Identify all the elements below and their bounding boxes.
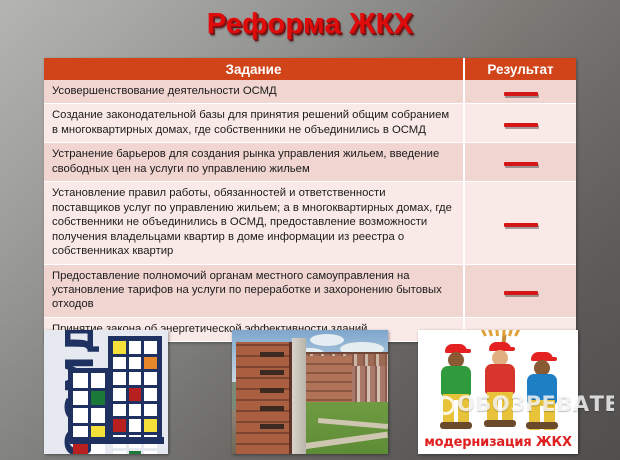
boots — [440, 422, 472, 429]
task-cell: Усовершенствование деятельности ОСМД — [44, 80, 464, 104]
table-row: Предоставление полномочий органам местно… — [44, 264, 576, 317]
result-dash-icon — [504, 291, 538, 295]
table-row: Установление правил работы, обязанностей… — [44, 182, 576, 264]
result-cell — [464, 80, 576, 104]
balcony — [260, 388, 284, 393]
red-sweater — [485, 364, 515, 394]
mid-building — [306, 356, 352, 408]
rake-head-icon — [484, 330, 518, 336]
result-dash-icon — [504, 162, 538, 166]
result-cell — [464, 143, 576, 182]
result-cell — [464, 264, 576, 317]
task-cell: Установление правил работы, обязанностей… — [44, 182, 464, 264]
building-mid-icon — [68, 368, 110, 442]
watermark-text: ОБОЗРЕВАТЕЛЬ — [457, 392, 614, 416]
worker-right — [522, 348, 562, 428]
apartment-photo — [232, 330, 388, 454]
far-building-row-2 — [350, 366, 388, 404]
osmd-logo-image: ОСМД — [44, 330, 168, 454]
tower-side-wall — [292, 338, 306, 454]
boots — [484, 420, 516, 427]
table-row: Создание законодательной базы для принят… — [44, 104, 576, 143]
table-body: Усовершенствование деятельности ОСМД Соз… — [44, 80, 576, 342]
result-cell — [464, 182, 576, 264]
table-header: Задание Результат — [44, 58, 576, 80]
cloud — [310, 334, 344, 346]
balcony — [260, 406, 284, 411]
obozrevatel-watermark: ОБОЗРЕВАТЕЛЬ — [436, 392, 614, 416]
column-header-result: Результат — [464, 58, 576, 80]
result-cell — [464, 104, 576, 143]
building-base — [70, 437, 164, 444]
boots — [526, 422, 558, 429]
balcony — [260, 424, 284, 429]
watermark-circle-icon — [436, 396, 455, 415]
balcony — [260, 352, 284, 357]
reform-table: Задание Результат Усовершенствование дея… — [44, 58, 576, 342]
result-dash-icon — [504, 123, 538, 127]
balcony — [260, 370, 284, 375]
result-dash-icon — [504, 223, 538, 227]
title-container: Реформа ЖКХ — [0, 2, 620, 46]
task-cell: Создание законодательной базы для принят… — [44, 104, 464, 143]
table-row: Усовершенствование деятельности ОСМД — [44, 80, 576, 104]
column-header-task: Задание — [44, 58, 464, 80]
table-header-row: Задание Результат — [44, 58, 576, 80]
result-dash-icon — [504, 92, 538, 96]
poster-caption: модернизация ЖКХ — [418, 435, 578, 450]
task-cell: Предоставление полномочий органам местно… — [44, 264, 464, 317]
task-cell: Устранение барьеров для создания рынка у… — [44, 143, 464, 182]
slide-canvas: Реформа ЖКХ Задание Результат Усовершенс… — [0, 0, 620, 460]
page-title: Реформа ЖКХ — [207, 8, 414, 41]
building-tall-icon — [108, 336, 162, 442]
brick-tower — [236, 342, 292, 454]
table-row: Устранение барьеров для создания рынка у… — [44, 143, 576, 182]
